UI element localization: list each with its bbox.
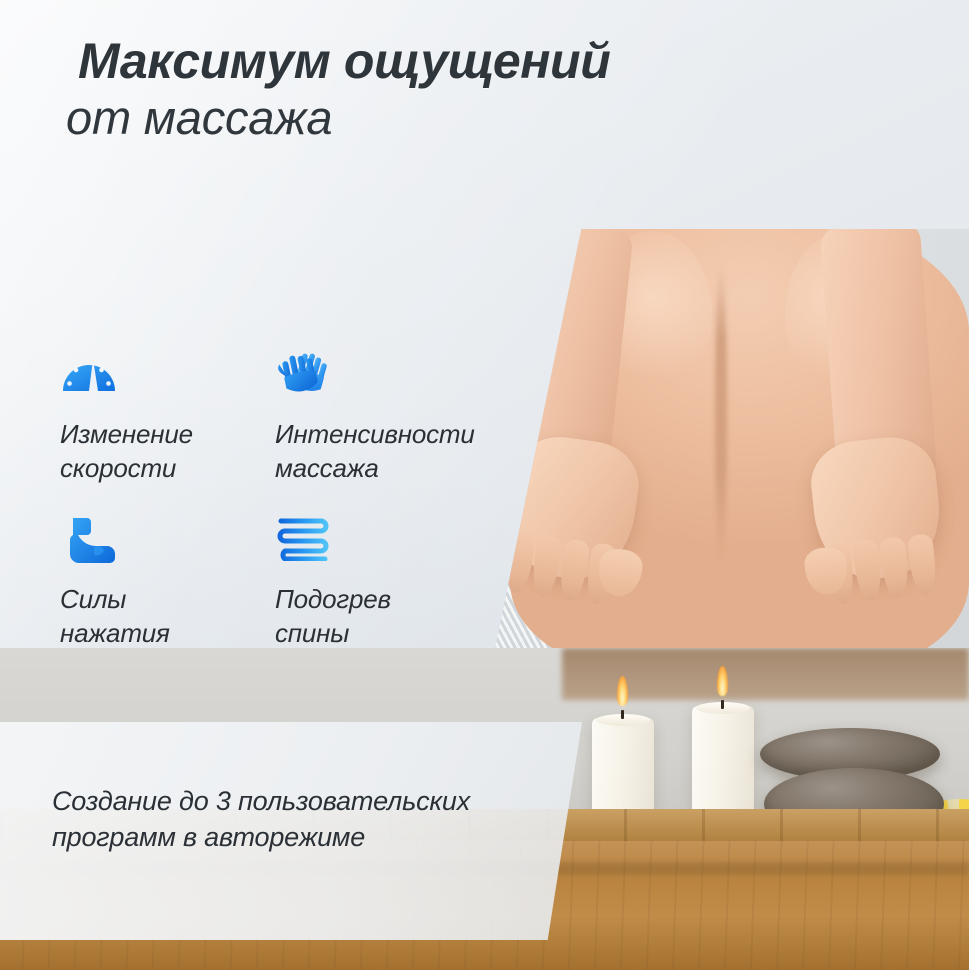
speedometer-icon [60,350,275,406]
feature-heating-label: Подогрев спины [275,583,475,651]
wick-right [721,700,724,709]
feature-speed: Изменение скорости [60,350,275,515]
feature-intensity-label: Интенсивности массажа [275,418,475,486]
flexed-biceps-icon [60,515,275,571]
feature-pressure-label: Силы нажатия [60,583,275,651]
caption-text: Создание до 3 пользовательских программ … [52,784,572,855]
masseuse-hand-left [501,431,644,586]
headline-line-1: Максимум ощущений [78,36,838,87]
heating-coil-icon [275,515,475,571]
feature-speed-label: Изменение скорости [60,418,275,486]
masseuse-hand-right [807,433,946,584]
promo-poster: Максимум ощущений от массажа [0,0,969,970]
feature-list: Изменение скорости [60,350,460,680]
wick-left [621,710,624,719]
back-massage-photo [470,229,969,649]
feature-intensity: Интенсивности массажа [275,350,475,515]
massage-hands-icon [275,350,475,406]
page-title: Максимум ощущений от массажа [78,36,838,142]
massage-scene [470,229,969,649]
headline-line-2: от массажа [66,94,838,142]
